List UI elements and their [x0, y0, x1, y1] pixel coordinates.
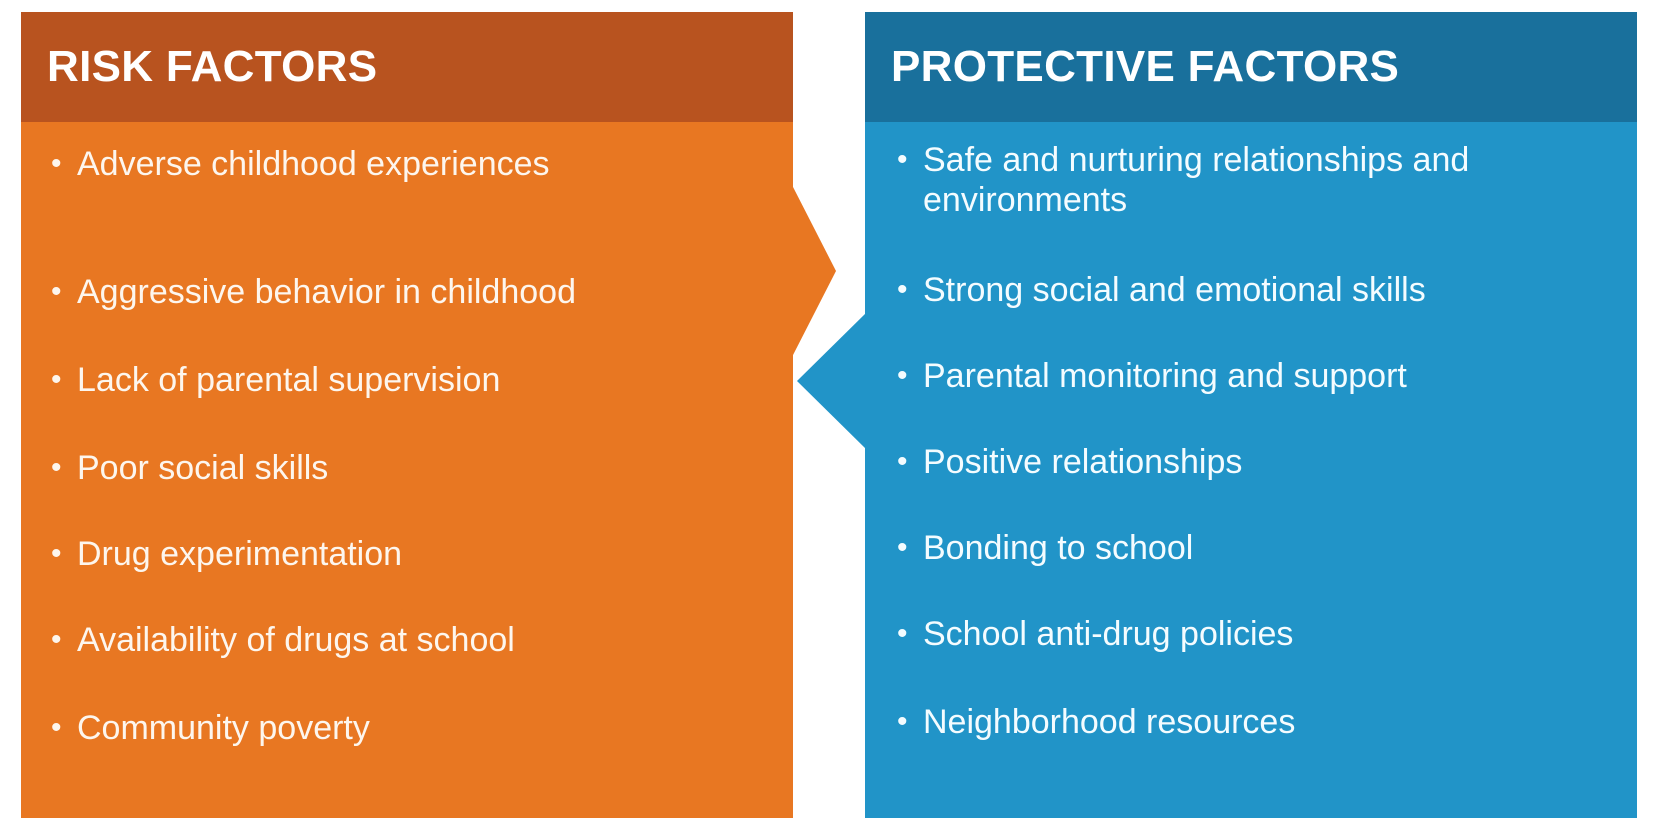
protective-factors-body: • Safe and nurturing relationships and e…: [865, 122, 1637, 818]
bullet-icon: •: [51, 360, 77, 399]
list-item: • Availability of drugs at school: [51, 620, 777, 708]
list-item: • School anti-drug policies: [897, 614, 1623, 702]
list-item: • Strong social and emotional skills: [897, 270, 1623, 356]
list-item-label: Poor social skills: [77, 448, 777, 488]
list-item: • Poor social skills: [51, 448, 777, 534]
bullet-icon: •: [51, 448, 77, 487]
list-item: • Aggressive behavior in childhood: [51, 272, 777, 360]
list-item-label: Bonding to school: [923, 528, 1623, 568]
list-item-label: Adverse childhood experiences: [77, 144, 777, 184]
bullet-icon: •: [51, 620, 77, 659]
list-item-label: Drug experimentation: [77, 534, 777, 574]
list-item: • Positive relationships: [897, 442, 1623, 528]
risk-factors-panel: RISK FACTORS • Adverse childhood experie…: [21, 12, 793, 818]
list-item: • Drug experimentation: [51, 534, 777, 620]
bullet-icon: •: [51, 708, 77, 747]
risk-factors-list: • Adverse childhood experiences • Aggres…: [21, 122, 793, 818]
protective-factors-list: • Safe and nurturing relationships and e…: [865, 122, 1637, 818]
list-item-label: School anti-drug policies: [923, 614, 1623, 654]
bullet-icon: •: [897, 528, 923, 567]
arrow-right-icon: [792, 185, 836, 357]
bullet-icon: •: [897, 140, 923, 179]
bullet-icon: •: [51, 144, 77, 183]
list-item-label: Neighborhood resources: [923, 702, 1623, 742]
bullet-icon: •: [897, 702, 923, 741]
risk-factors-body: • Adverse childhood experiences • Aggres…: [21, 122, 793, 818]
list-item-label: Aggressive behavior in childhood: [77, 272, 777, 312]
list-item-label: Lack of parental supervision: [77, 360, 777, 400]
bullet-icon: •: [51, 272, 77, 311]
list-item: • Lack of parental supervision: [51, 360, 777, 448]
list-item-label: Strong social and emotional skills: [923, 270, 1623, 310]
list-item: • Bonding to school: [897, 528, 1623, 614]
bullet-icon: •: [897, 270, 923, 309]
risk-factors-header: RISK FACTORS: [21, 12, 793, 122]
list-item-label: Community poverty: [77, 708, 777, 748]
bullet-icon: •: [897, 442, 923, 481]
bullet-icon: •: [897, 614, 923, 653]
protective-factors-title: PROTECTIVE FACTORS: [865, 42, 1399, 92]
list-item-label: Positive relationships: [923, 442, 1623, 482]
list-item-label: Parental monitoring and support: [923, 356, 1623, 396]
list-item-label: Safe and nurturing relationships and env…: [923, 140, 1623, 220]
list-item: • Adverse childhood experiences: [51, 144, 777, 272]
list-item: • Community poverty: [51, 708, 777, 796]
arrow-left-icon: [797, 312, 867, 450]
protective-factors-panel: PROTECTIVE FACTORS • Safe and nurturing …: [865, 12, 1637, 818]
bullet-icon: •: [897, 356, 923, 395]
list-item: • Parental monitoring and support: [897, 356, 1623, 442]
protective-factors-header: PROTECTIVE FACTORS: [865, 12, 1637, 122]
diagram-canvas: RISK FACTORS • Adverse childhood experie…: [0, 0, 1664, 837]
list-item: • Safe and nurturing relationships and e…: [897, 140, 1623, 270]
risk-factors-title: RISK FACTORS: [21, 42, 377, 92]
list-item: • Neighborhood resources: [897, 702, 1623, 790]
bullet-icon: •: [51, 534, 77, 573]
list-item-label: Availability of drugs at school: [77, 620, 777, 660]
